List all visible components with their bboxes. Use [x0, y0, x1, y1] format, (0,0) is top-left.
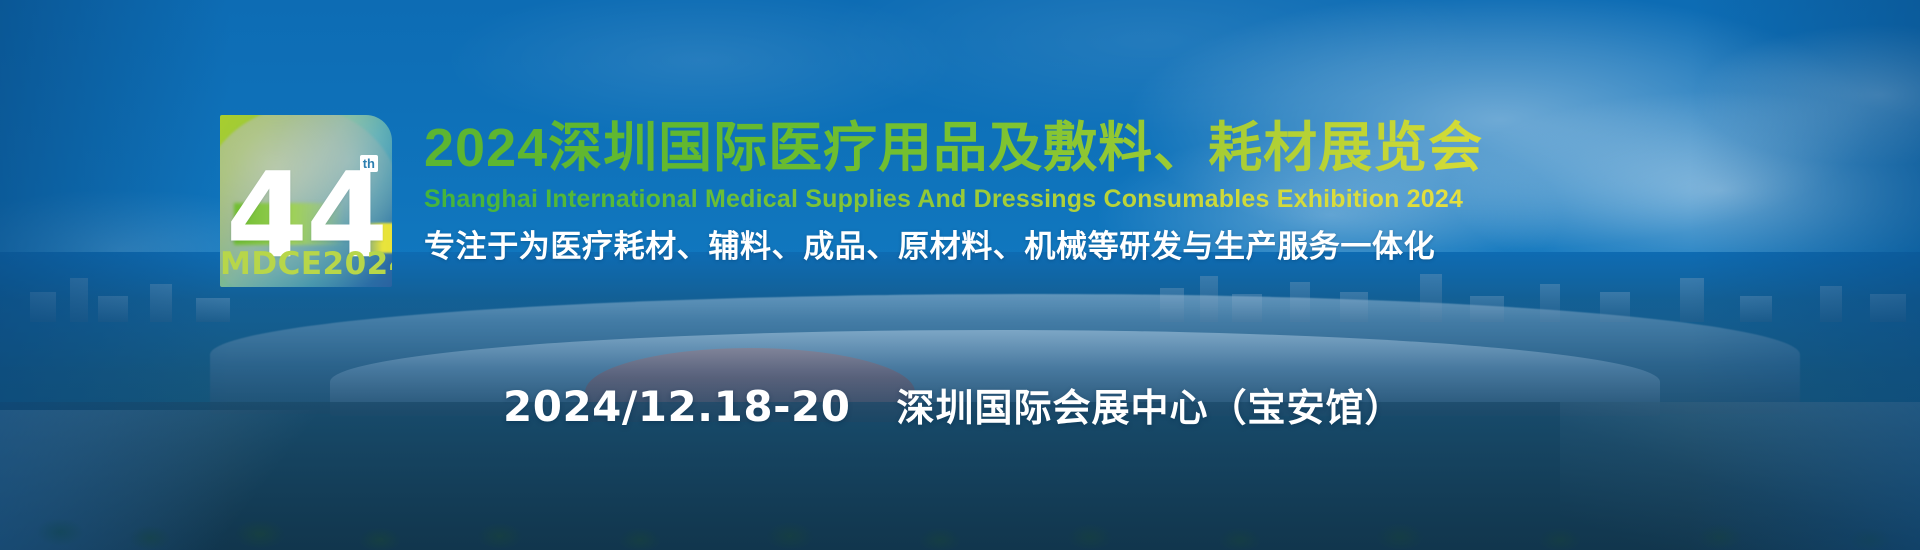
event-logo: 44 th MDCE2024	[220, 115, 392, 287]
event-date: 2024/12.18-20	[503, 383, 850, 431]
page-title: 2024深圳国际医疗用品及敷料、耗材展览会	[424, 118, 1483, 178]
title-block: 2024深圳国际医疗用品及敷料、耗材展览会 Shanghai Internati…	[424, 118, 1483, 266]
banner-content: 44 th MDCE2024 2024深圳国际医疗用品及敷料、耗材展览会 Sha…	[0, 0, 1920, 550]
tagline: 专注于为医疗耗材、辅料、成品、原材料、机械等研发与生产服务一体化	[424, 228, 1483, 266]
date-venue-bar: 2024/12.18-20 深圳国际会展中心（宝安馆）	[503, 383, 1403, 433]
event-venue: 深圳国际会展中心（宝安馆）	[896, 385, 1403, 433]
logo-acronym: MDCE2024	[220, 247, 392, 281]
logo-edition-suffix: th	[360, 155, 378, 172]
page-subtitle-english: Shanghai International Medical Supplies …	[424, 185, 1483, 214]
exhibition-banner: 44 th MDCE2024 2024深圳国际医疗用品及敷料、耗材展览会 Sha…	[0, 0, 1920, 550]
